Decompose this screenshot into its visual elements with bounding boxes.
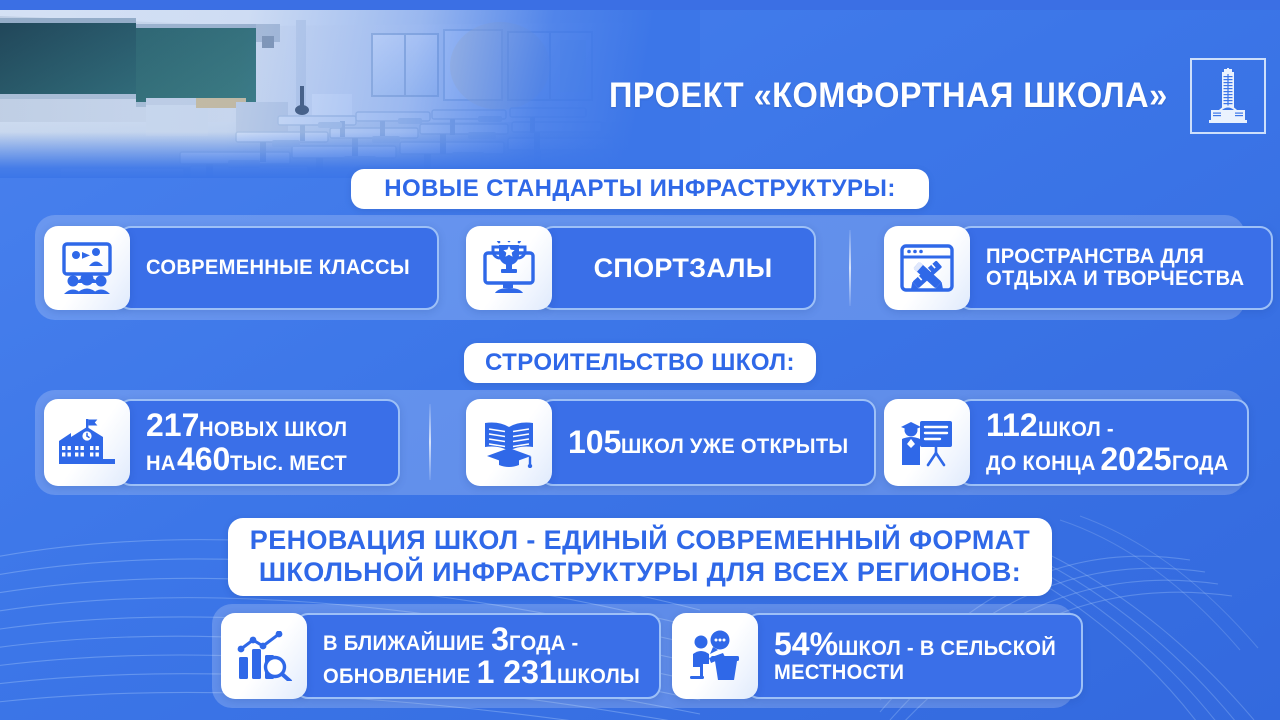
card-gyms[interactable]: СПОРТЗАЛЫ: [466, 226, 816, 310]
school-building-icon: [44, 399, 130, 486]
card-text: ПРОСТРАНСТВА ДЛЯ: [986, 246, 1204, 268]
card-number: 3: [491, 621, 509, 657]
card-text: ДО КОНЦА: [986, 453, 1096, 475]
card-schools-by-2025[interactable]: 112 ШКОЛ - ДО КОНЦА 2025 ГОДА: [884, 399, 1236, 486]
open-book-graduation-cap-icon: [466, 399, 552, 486]
card-line: СОВРЕМЕННЫЕ КЛАССЫ: [146, 257, 421, 279]
card-line: НА 460 ТЫС. МЕСТ: [146, 443, 382, 476]
card-text: ГОДА: [1172, 453, 1229, 475]
card-renovation-plan[interactable]: В БЛИЖАЙШИЕ 3 ГОДА - ОБНОВЛЕНИЕ 1 231 ШК…: [221, 613, 609, 699]
card-line: ДО КОНЦА 2025 ГОДА: [986, 443, 1231, 476]
card-line: 54% ШКОЛ - В СЕЛЬСКОЙ: [774, 628, 1065, 661]
graduate-presentation-board-icon: [884, 399, 970, 486]
card-text: ШКОЛ УЖЕ ОТКРЫТЫ: [621, 436, 848, 458]
card-number: 217: [146, 407, 199, 443]
card-text: НОВЫХ ШКОЛ: [199, 419, 347, 441]
card-number: 112: [986, 407, 1038, 443]
section-heading-line-1: РЕНОВАЦИЯ ШКОЛ - ЕДИНЫЙ СОВРЕМЕННЫЙ ФОРМ…: [250, 525, 1030, 557]
card-text: ШКОЛ - В СЕЛЬСКОЙ: [838, 638, 1056, 660]
card-divider: [849, 230, 851, 306]
card-number: 1 231: [477, 654, 557, 690]
card-schools-opened[interactable]: 105 ШКОЛ УЖЕ ОТКРЫТЫ: [466, 399, 820, 486]
section-heading-renovation: РЕНОВАЦИЯ ШКОЛ - ЕДИНЫЙ СОВРЕМЕННЫЙ ФОРМ…: [228, 518, 1052, 596]
card-text: ШКОЛ -: [1038, 419, 1114, 441]
classroom-monitor-students-icon: [44, 226, 130, 310]
card-body: В БЛИЖАЙШИЕ 3 ГОДА - ОБНОВЛЕНИЕ 1 231 ШК…: [295, 613, 661, 699]
section-heading-construction: СТРОИТЕЛЬСТВО ШКОЛ:: [464, 343, 816, 383]
bar-chart-magnifier-icon: [221, 613, 307, 699]
section-heading-text: СТРОИТЕЛЬСТВО ШКОЛ:: [485, 349, 795, 377]
card-text: ОБНОВЛЕНИЕ: [323, 666, 470, 688]
card-text: НА: [146, 453, 176, 475]
card-number: 460: [177, 441, 230, 477]
card-line: 217 НОВЫХ ШКОЛ: [146, 409, 382, 442]
top-accent-bar: [0, 0, 1280, 10]
infographic-stage: ПРОЕКТ «КОМФОРТНАЯ ШКОЛА»: [0, 0, 1280, 720]
page-title: ПРОЕКТ «КОМФОРТНАЯ ШКОЛА»: [609, 76, 1168, 116]
card-body: 105 ШКОЛ УЖЕ ОТКРЫТЫ: [540, 399, 876, 486]
classroom-photo: [0, 10, 700, 178]
card-number: 105: [568, 424, 621, 460]
card-text: В БЛИЖАЙШИЕ: [323, 633, 484, 655]
government-building-icon: [1190, 58, 1266, 134]
browser-pencil-ruler-icon: [884, 226, 970, 310]
card-text: ОТДЫХА И ТВОРЧЕСТВА: [986, 268, 1244, 290]
card-number: 2025: [1100, 441, 1171, 477]
card-line: СПОРТЗАЛЫ: [594, 254, 773, 282]
card-line: ПРОСТРАНСТВА ДЛЯ: [986, 246, 1255, 268]
card-body: СОВРЕМЕННЫЕ КЛАССЫ: [118, 226, 439, 310]
header: ПРОЕКТ «КОМФОРТНАЯ ШКОЛА»: [640, 48, 1266, 144]
card-text: ТЫС. МЕСТ: [230, 453, 347, 475]
trophy-monitor-icon: [466, 226, 552, 310]
card-line: 112 ШКОЛ -: [986, 409, 1231, 442]
card-body: 112 ШКОЛ - ДО КОНЦА 2025 ГОДА: [958, 399, 1249, 486]
card-text: МЕСТНОСТИ: [774, 662, 904, 684]
card-recreation-spaces[interactable]: ПРОСТРАНСТВА ДЛЯ ОТДЫХА И ТВОРЧЕСТВА: [884, 226, 1236, 310]
card-text: СОВРЕМЕННЫЕ КЛАССЫ: [146, 257, 410, 279]
card-text: ГОДА -: [509, 633, 579, 655]
section-heading-line-2: ШКОЛЬНОЙ ИНФРАСТРУКТУРЫ ДЛЯ ВСЕХ РЕГИОНО…: [259, 557, 1021, 589]
card-new-schools[interactable]: 217 НОВЫХ ШКОЛ НА 460 ТЫС. МЕСТ: [44, 399, 400, 486]
card-line: В БЛИЖАЙШИЕ 3 ГОДА -: [323, 623, 643, 656]
card-text: СПОРТЗАЛЫ: [594, 253, 773, 283]
student-at-desk-icon: [672, 613, 758, 699]
section-heading-text: НОВЫЕ СТАНДАРТЫ ИНФРАСТРУКТУРЫ:: [384, 175, 895, 203]
card-body: 217 НОВЫХ ШКОЛ НА 460 ТЫС. МЕСТ: [118, 399, 400, 486]
card-rural-share[interactable]: 54% ШКОЛ - В СЕЛЬСКОЙ МЕСТНОСТИ: [672, 613, 1057, 699]
card-body: 54% ШКОЛ - В СЕЛЬСКОЙ МЕСТНОСТИ: [746, 613, 1083, 699]
section-heading-infrastructure: НОВЫЕ СТАНДАРТЫ ИНФРАСТРУКТУРЫ:: [351, 169, 929, 209]
card-divider: [429, 404, 431, 480]
card-line: ОТДЫХА И ТВОРЧЕСТВА: [986, 268, 1255, 290]
card-line: МЕСТНОСТИ: [774, 662, 1065, 684]
card-text: ШКОЛЫ: [557, 666, 640, 688]
card-line: ОБНОВЛЕНИЕ 1 231 ШКОЛЫ: [323, 656, 643, 689]
card-body: СПОРТЗАЛЫ: [540, 226, 816, 310]
card-line: 105 ШКОЛ УЖЕ ОТКРЫТЫ: [568, 426, 858, 459]
card-modern-classes[interactable]: СОВРЕМЕННЫЕ КЛАССЫ: [44, 226, 396, 310]
card-number: 54%: [774, 626, 838, 662]
card-body: ПРОСТРАНСТВА ДЛЯ ОТДЫХА И ТВОРЧЕСТВА: [958, 226, 1273, 310]
